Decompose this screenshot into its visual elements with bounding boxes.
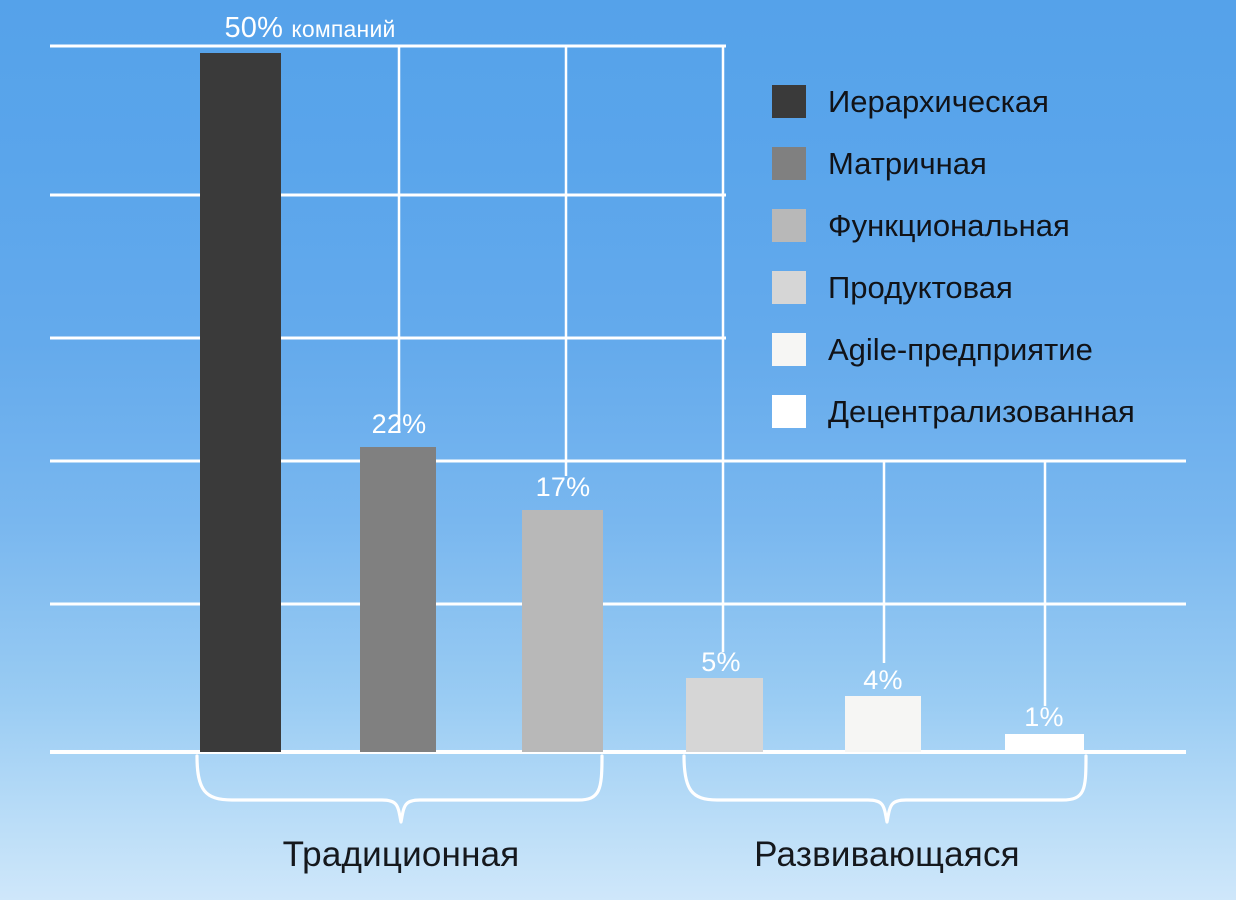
legend-swatch-icon (772, 271, 806, 304)
bar-value-label-product: 5% (701, 647, 740, 678)
bar-value-suffix: компаний (291, 16, 395, 42)
legend-swatch-icon (772, 395, 806, 428)
legend-item-matrix[interactable]: Матричная (772, 132, 1212, 194)
legend-item-label: Продуктовая (828, 272, 1013, 303)
bar-value-label-agile: 4% (863, 665, 902, 696)
legend-item-label: Децентрализованная (828, 396, 1135, 427)
chart-legend: Иерархическая Матричная Функциональная П… (772, 70, 1212, 442)
chart-canvas: 50% компаний 22% 17% 5% 4% 1% Иерархичес… (0, 0, 1236, 900)
bar-value-label-functional: 17% (536, 472, 591, 503)
legend-swatch-icon (772, 333, 806, 366)
bar-agile[interactable] (845, 696, 921, 752)
bar-value-label-hierarchical: 50% компаний (224, 12, 395, 45)
legend-swatch-icon (772, 209, 806, 242)
bar-functional[interactable] (522, 510, 603, 752)
group-label-emerging: Развивающаяся (754, 835, 1020, 875)
legend-swatch-icon (772, 147, 806, 180)
bar-decentralized[interactable] (1005, 734, 1084, 752)
bar-value-label-decentralized: 1% (1024, 702, 1063, 733)
legend-item-label: Функциональная (828, 210, 1070, 241)
bar-value-label-matrix: 22% (372, 409, 427, 440)
legend-item-agile[interactable]: Agile-предприятие (772, 318, 1212, 380)
group-label-traditional: Традиционная (283, 835, 520, 875)
legend-item-label: Agile-предприятие (828, 334, 1093, 365)
legend-swatch-icon (772, 85, 806, 118)
legend-item-functional[interactable]: Функциональная (772, 194, 1212, 256)
bar-value-main: 50% (224, 12, 283, 44)
legend-item-decentralized[interactable]: Децентрализованная (772, 380, 1212, 442)
legend-item-label: Матричная (828, 148, 987, 179)
bar-product[interactable] (686, 678, 763, 752)
legend-item-label: Иерархическая (828, 86, 1049, 117)
bar-matrix[interactable] (360, 447, 436, 752)
bar-hierarchical[interactable] (200, 53, 281, 752)
legend-item-product[interactable]: Продуктовая (772, 256, 1212, 318)
legend-item-hierarchical[interactable]: Иерархическая (772, 70, 1212, 132)
